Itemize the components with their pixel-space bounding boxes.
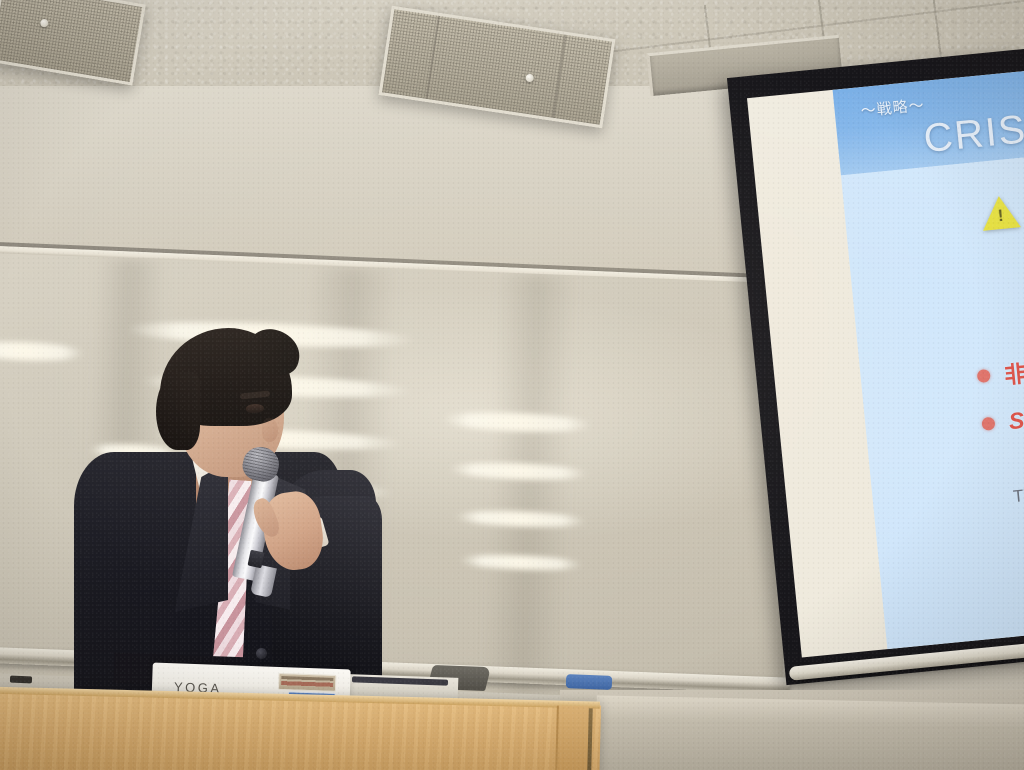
presentation-slide: ～戦略～ CRISP ファージ 非必須遺伝子 <box>833 67 1024 649</box>
whiteboard-shadow <box>482 272 578 695</box>
slide-bullet-text: 非必須遺伝子 <box>1002 343 1024 390</box>
slide-kicker: ～戦略～ <box>860 94 926 121</box>
desk-right <box>595 695 1024 770</box>
slide-body: ファージ 非必須遺伝子 SpCas9 (4,1 T7 WT ge <box>841 147 1024 650</box>
genome-wt-line1: T7 WT genome <box>1012 475 1024 509</box>
slide-title: CRISP <box>922 104 1024 162</box>
laptop-sticker-top-lines <box>281 676 333 689</box>
slide-bullet-item: 非必須遺伝子 <box>976 330 1024 393</box>
slide-bullet-text: SpCas9 (4,1 <box>1008 396 1024 436</box>
laptop-sticker-top <box>278 673 337 692</box>
eraser-blue[interactable] <box>566 674 613 690</box>
projector-screen-surface: ～戦略～ CRISP ファージ 非必須遺伝子 <box>747 67 1024 658</box>
presenter-hair-side <box>156 372 200 450</box>
presenter-nose <box>262 418 278 442</box>
bullet-dot-icon <box>981 417 995 431</box>
lecture-hall-scene: ～戦略～ CRISP ファージ 非必須遺伝子 <box>0 0 1024 770</box>
slide-header: ～戦略～ CRISP <box>833 67 1024 176</box>
marker-left[interactable] <box>10 676 32 684</box>
genome-label-wt: T7 WT genome (39,937 bp) <box>1012 475 1024 531</box>
slide-warning-row: ファージ <box>980 183 1024 232</box>
bullet-dot-icon <box>977 368 991 382</box>
presenter-suit-button <box>256 648 267 659</box>
slide-bullet-list: 非必須遺伝子 SpCas9 (4,1 <box>976 330 1024 456</box>
podium-right-post <box>555 706 589 770</box>
warning-triangle-icon <box>980 194 1021 231</box>
